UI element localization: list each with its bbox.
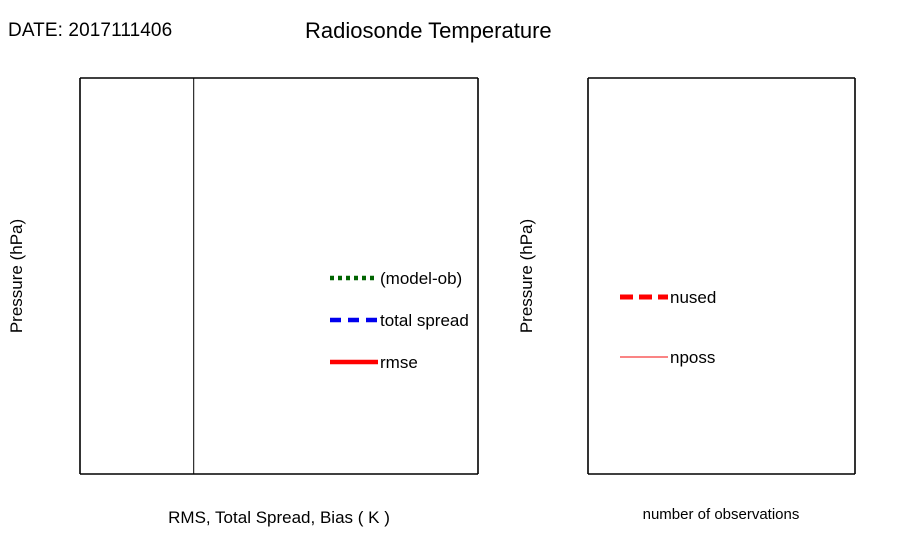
legend-label-total-spread: total spread bbox=[380, 311, 469, 330]
figure-canvas: DATE: 2017111406 Radiosonde Temperature … bbox=[0, 0, 900, 560]
legend-label-nused: nused bbox=[670, 288, 716, 307]
left-legend: (model-ob) total spread rmse bbox=[330, 269, 469, 372]
legend-label-model-ob: (model-ob) bbox=[380, 269, 462, 288]
left-y-axis-title: Pressure (hPa) bbox=[7, 219, 26, 333]
right-panel-frame bbox=[588, 78, 855, 474]
legend-label-nposs: nposs bbox=[670, 348, 715, 367]
legend-label-rmse: rmse bbox=[380, 353, 418, 372]
plot-svg: (model-ob) total spread rmse RMS, Total … bbox=[0, 0, 900, 560]
right-legend: nused nposs bbox=[620, 288, 716, 367]
right-y-axis-title: Pressure (hPa) bbox=[517, 219, 536, 333]
left-x-axis-title: RMS, Total Spread, Bias ( K ) bbox=[168, 508, 390, 527]
right-x-axis-title: number of observations bbox=[643, 506, 800, 523]
